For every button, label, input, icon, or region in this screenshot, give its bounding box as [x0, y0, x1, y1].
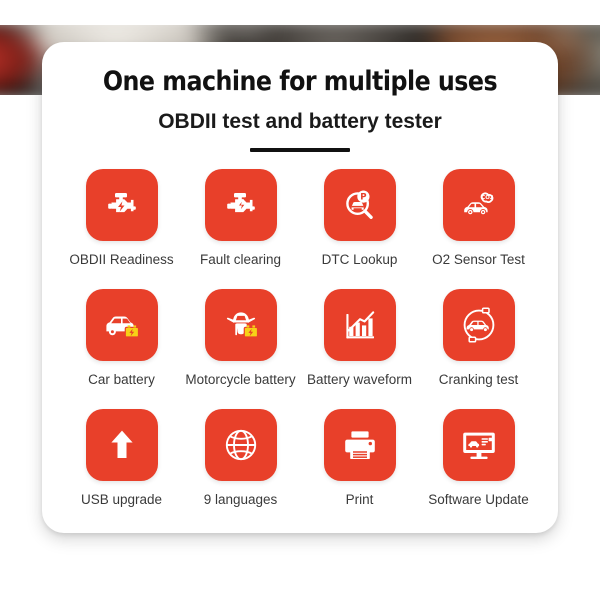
feature-label: OBDII Readiness — [69, 252, 173, 267]
feature-item-print[interactable]: Print — [300, 409, 419, 529]
feature-tile[interactable] — [205, 169, 277, 241]
svg-text:P: P — [360, 193, 366, 203]
feature-tile[interactable] — [205, 409, 277, 481]
feature-item-o2-sensor-test[interactable]: CO2 — [419, 169, 538, 289]
feature-label: Motorcycle battery — [185, 372, 295, 387]
feature-card: One machine for multiple uses OBDII test… — [42, 42, 558, 533]
feature-item-car-battery[interactable]: Car battery — [62, 289, 181, 409]
feature-tile[interactable] — [86, 289, 158, 361]
monitor-car-icon — [458, 424, 500, 466]
feature-item-battery-waveform[interactable]: Battery waveform — [300, 289, 419, 409]
magnifier-car-p-icon: P — [340, 185, 380, 225]
feature-item-cranking-test[interactable]: Cranking test — [419, 289, 538, 409]
feature-label: DTC Lookup — [322, 252, 398, 267]
feature-label: USB upgrade — [81, 492, 162, 507]
feature-tile[interactable]: CO2 — [443, 169, 515, 241]
feature-label: Print — [346, 492, 374, 507]
feature-tile[interactable]: P — [324, 169, 396, 241]
feature-label: Cranking test — [439, 372, 519, 387]
feature-item-usb-upgrade[interactable]: USB upgrade — [62, 409, 181, 529]
engine-clear-icon — [221, 185, 261, 225]
feature-tile[interactable] — [86, 409, 158, 481]
feature-tile[interactable] — [443, 409, 515, 481]
motorcycle-battery-icon — [220, 304, 262, 346]
bar-chart-trend-icon — [340, 305, 380, 345]
feature-label: O2 Sensor Test — [432, 252, 525, 267]
feature-item-fault-clearing[interactable]: Fault clearing — [181, 169, 300, 289]
page-subtitle: OBDII test and battery tester — [42, 97, 558, 134]
feature-tile[interactable] — [205, 289, 277, 361]
feature-label: Software Update — [428, 492, 529, 507]
feature-tile[interactable] — [324, 289, 396, 361]
printer-icon — [340, 425, 380, 465]
feature-label: Car battery — [88, 372, 155, 387]
feature-tile[interactable] — [324, 409, 396, 481]
feature-label: 9 languages — [204, 492, 278, 507]
engine-icon — [102, 185, 142, 225]
feature-grid: OBDII Readiness — [42, 169, 558, 529]
feature-label: Fault clearing — [200, 252, 281, 267]
feature-item-motorcycle-battery[interactable]: Motorcycle battery — [181, 289, 300, 409]
car-circular-arrow-icon — [458, 304, 500, 346]
feature-item-dtc-lookup[interactable]: P DTC Lookup — [300, 169, 419, 289]
car-battery-icon — [101, 304, 143, 346]
feature-item-obdii-readiness[interactable]: OBDII Readiness — [62, 169, 181, 289]
car-exhaust-co2-icon: CO2 — [459, 185, 499, 225]
feature-tile[interactable] — [443, 289, 515, 361]
up-arrow-icon — [102, 425, 142, 465]
page-title: One machine for multiple uses — [73, 42, 527, 97]
svg-text:CO2: CO2 — [481, 195, 494, 201]
feature-item-9-languages[interactable]: 9 languages — [181, 409, 300, 529]
feature-label: Battery waveform — [307, 372, 412, 387]
title-divider — [250, 148, 350, 152]
feature-tile[interactable] — [86, 169, 158, 241]
feature-item-software-update[interactable]: Software Update — [419, 409, 538, 529]
globe-icon — [220, 424, 262, 466]
